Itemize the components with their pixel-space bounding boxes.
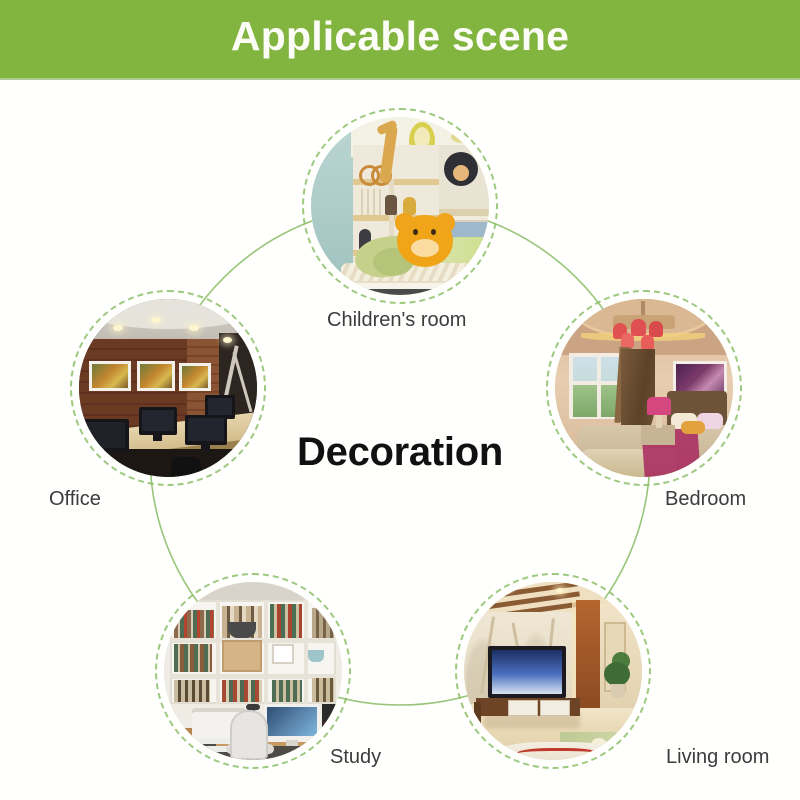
scene-node-childrens-room[interactable]	[302, 108, 498, 304]
scene-node-bedroom[interactable]	[546, 290, 742, 486]
living-room-dashed-ring	[455, 573, 651, 769]
scene-label-office: Office	[49, 488, 101, 511]
scene-label-study: Study	[330, 746, 381, 769]
scene-label-childrens-room: Children's room	[327, 309, 466, 332]
scene-label-living-room: Living room	[666, 746, 769, 769]
scene-node-living-room[interactable]	[455, 573, 651, 769]
study-dashed-ring	[155, 573, 351, 769]
applicable-scene-infographic: Applicable scene Decoration	[0, 0, 800, 800]
childrens-room-dashed-ring	[302, 108, 498, 304]
scene-node-office[interactable]	[70, 290, 266, 486]
office-dashed-ring	[70, 290, 266, 486]
page-title: Applicable scene	[0, 0, 800, 78]
scene-label-bedroom: Bedroom	[665, 488, 746, 511]
scene-node-study[interactable]	[155, 573, 351, 769]
bedroom-dashed-ring	[546, 290, 742, 486]
scene-diagram: Decoration	[0, 78, 800, 800]
